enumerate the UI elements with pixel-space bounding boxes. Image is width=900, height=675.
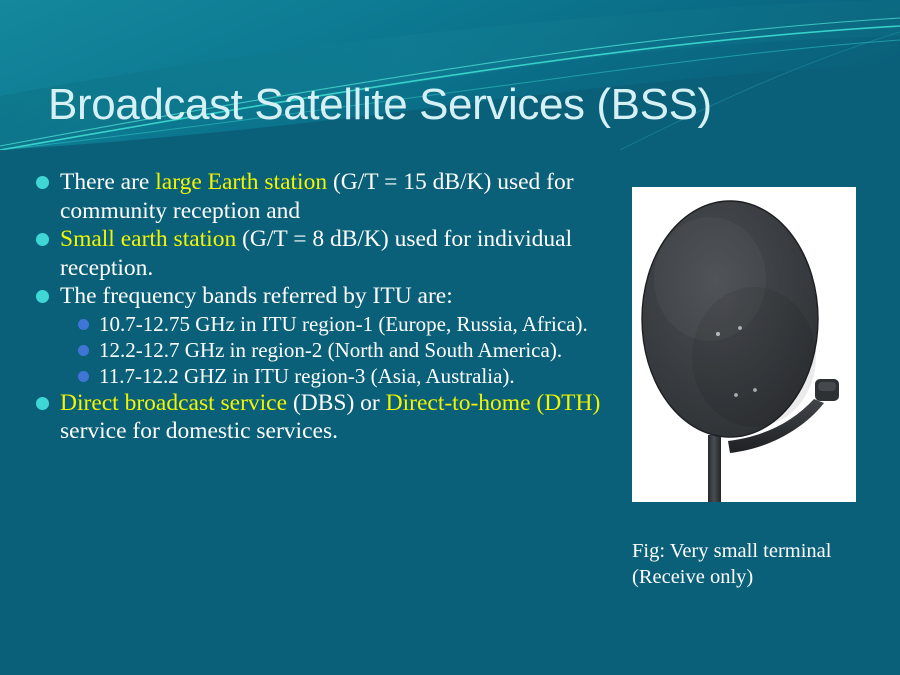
bullet-dot-icon bbox=[36, 290, 49, 303]
bullet-dot-icon bbox=[78, 345, 89, 356]
bullet-text: There are large Earth station (G/T = 15 … bbox=[60, 168, 626, 225]
highlighted-text-run: Direct-to-home (DTH) bbox=[386, 390, 601, 416]
bullet-dot-icon bbox=[78, 371, 89, 382]
bullet-item: Direct broadcast service (DBS) or Direct… bbox=[36, 389, 626, 446]
text-run: 11.7-12.2 GHZ in ITU region-3 (Asia, Aus… bbox=[99, 364, 515, 388]
bullet-item: The frequency bands referred by ITU are: bbox=[36, 282, 626, 311]
satellite-dish-antenna-photo bbox=[632, 187, 856, 502]
text-run: There are bbox=[60, 169, 155, 195]
bullet-item: 11.7-12.2 GHZ in ITU region-3 (Asia, Aus… bbox=[78, 363, 626, 389]
bullet-dot-icon bbox=[78, 319, 89, 330]
figure-caption-line-2: (Receive only) bbox=[632, 564, 882, 590]
bullet-text: The frequency bands referred by ITU are: bbox=[60, 282, 626, 311]
bullet-item: 10.7-12.75 GHz in ITU region-1 (Europe, … bbox=[78, 311, 626, 337]
bullet-dot-icon bbox=[36, 233, 49, 246]
bullet-item: Small earth station (G/T = 8 dB/K) used … bbox=[36, 225, 626, 282]
bullet-dot-icon bbox=[36, 397, 49, 410]
figure-caption: Fig: Very small terminal (Receive only) bbox=[632, 538, 882, 590]
bullet-dot-icon bbox=[36, 176, 49, 189]
bullet-text: Direct broadcast service (DBS) or Direct… bbox=[60, 389, 626, 446]
text-run: 12.2-12.7 GHz in region-2 (North and Sou… bbox=[99, 338, 562, 362]
highlighted-text-run: Small earth station bbox=[60, 226, 236, 252]
bullet-text: 11.7-12.2 GHZ in ITU region-3 (Asia, Aus… bbox=[99, 363, 626, 389]
bullet-item: 12.2-12.7 GHz in region-2 (North and Sou… bbox=[78, 337, 626, 363]
bullet-text: 10.7-12.75 GHz in ITU region-1 (Europe, … bbox=[99, 311, 626, 337]
bullet-item: There are large Earth station (G/T = 15 … bbox=[36, 168, 626, 225]
bullet-list: There are large Earth station (G/T = 15 … bbox=[36, 168, 626, 446]
figure-caption-line-1: Fig: Very small terminal bbox=[632, 538, 882, 564]
text-run: 10.7-12.75 GHz in ITU region-1 (Europe, … bbox=[99, 312, 588, 336]
presentation-slide: Broadcast Satellite Services (BSS) There… bbox=[0, 0, 900, 675]
bullet-text: 12.2-12.7 GHz in region-2 (North and Sou… bbox=[99, 337, 626, 363]
page-title: Broadcast Satellite Services (BSS) bbox=[48, 82, 868, 129]
figure-block: Fig: Very small terminal (Receive only) bbox=[632, 187, 856, 590]
highlighted-text-run: large Earth station bbox=[155, 169, 327, 195]
satellite-dish-photo-frame bbox=[632, 187, 856, 502]
bullet-text: Small earth station (G/T = 8 dB/K) used … bbox=[60, 225, 626, 282]
text-run: service for domestic services. bbox=[60, 418, 338, 444]
text-run: (DBS) or bbox=[287, 390, 386, 416]
text-run: The frequency bands referred by ITU are: bbox=[60, 283, 453, 309]
highlighted-text-run: Direct broadcast service bbox=[60, 390, 287, 416]
